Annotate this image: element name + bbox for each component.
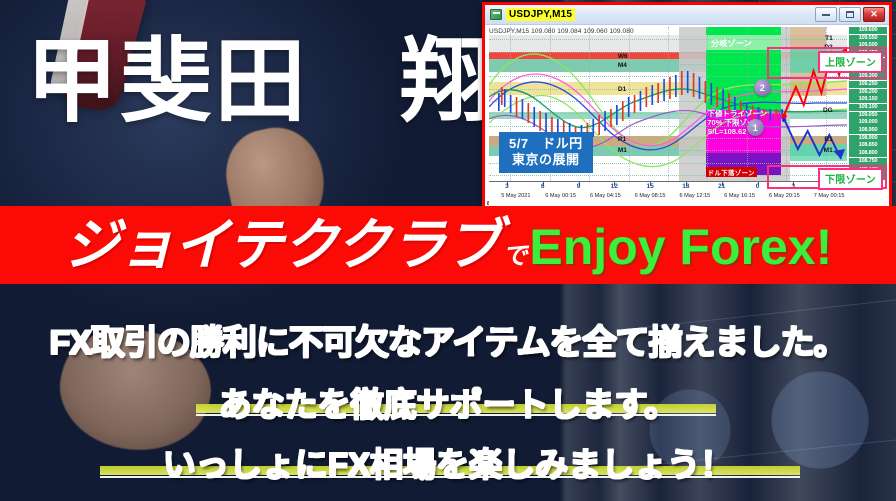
price-tick: 109.150 xyxy=(849,96,887,103)
level-label: D1 xyxy=(618,86,626,93)
price-tick: 109.200 xyxy=(849,89,887,96)
tagline-1: FX取引の勝利に不可欠なアイテムを全て揃えました。 xyxy=(0,315,896,364)
time-tick-date: 6 May 00:15 xyxy=(545,193,576,199)
promo-banner: ジョイテククラブ で Enjoy Forex! xyxy=(0,206,896,284)
level-label: W6 xyxy=(618,53,628,60)
level-label: M4 xyxy=(618,62,627,69)
chart-caption-line-1: 5/7 ドル円 xyxy=(509,136,583,152)
price-tick: 109.300 xyxy=(849,73,887,80)
banner-particle: で xyxy=(502,244,527,269)
level-label: R1 xyxy=(824,136,832,143)
time-tick-hour: 6 xyxy=(541,183,545,190)
price-tick: 109.500 xyxy=(849,42,887,49)
chart-document-icon xyxy=(490,9,502,20)
chart-caption-line-2: 東京の展開 xyxy=(509,152,583,168)
price-tick: 109.100 xyxy=(849,104,887,111)
time-tick-date: 7 May 00:15 xyxy=(814,193,845,199)
time-tick-hour: 15 xyxy=(646,183,653,190)
time-tick-date: 6 May 12:15 xyxy=(679,193,710,199)
price-tick: 108.850 xyxy=(849,142,887,149)
time-tick-date: 6 May 08:15 xyxy=(635,193,666,199)
upper-limit-zone-callout: 上限ゾーン xyxy=(818,51,883,73)
time-tick-hour: 21 xyxy=(718,183,725,190)
price-tick: 109.050 xyxy=(849,112,887,119)
given-name: 翔 xyxy=(400,36,494,128)
time-tick-hour: 3 xyxy=(505,183,509,190)
level-label: M1 xyxy=(824,147,833,154)
level-label: M1 xyxy=(618,147,627,154)
maximize-icon xyxy=(846,11,854,18)
price-tick: 108.750 xyxy=(849,158,887,165)
promo-banner-text: ジョイテククラブ で Enjoy Forex! xyxy=(64,217,833,273)
price-tick: 108.800 xyxy=(849,150,887,157)
time-tick-hour: 0 xyxy=(756,183,760,190)
dollar-drop-zone-label: ドル下落ゾーン xyxy=(706,167,757,177)
minimize-button[interactable] xyxy=(815,7,837,22)
time-tick-hour: 12 xyxy=(611,183,618,190)
person-name: 甲斐田 翔 xyxy=(26,36,494,128)
tagline-3: いっしょにFX相場を楽しみましょう！ xyxy=(0,438,896,486)
time-tick-hour: 18 xyxy=(682,183,689,190)
mt4-chart-window[interactable]: USDJPY,M15 ✕ xyxy=(482,2,892,206)
chart-caption: 5/7 ドル円 東京の展開 xyxy=(499,132,593,173)
time-tick-date: 6 May 20:15 xyxy=(769,193,800,199)
chart-window-titlebar[interactable]: USDJPY,M15 ✕ xyxy=(485,5,889,25)
tagline-3-underline xyxy=(100,476,800,478)
price-tick: 108.950 xyxy=(849,127,887,134)
window-controls[interactable]: ✕ xyxy=(815,7,886,22)
close-button[interactable]: ✕ xyxy=(863,7,885,22)
chart-window-title: USDJPY,M15 xyxy=(506,8,575,21)
level-label: DG xyxy=(823,107,833,114)
time-tick-date: 6 May 04:15 xyxy=(590,193,621,199)
chart-body[interactable]: T1 D3 W6 M4 W6 M4 D1 DG R1 M1 R1 M1 分岐ゾー… xyxy=(485,25,889,207)
branch-zone-label: 分岐ゾーン xyxy=(711,38,752,49)
level-label: R1 xyxy=(618,136,626,143)
minimize-icon xyxy=(822,14,830,16)
banner-slogan-en: Enjoy Forex! xyxy=(529,222,832,272)
trade-note-line-1: 下値トライゾーン xyxy=(707,109,767,118)
price-tick: 109.600 xyxy=(849,27,887,34)
level-label: T1 xyxy=(825,35,833,42)
price-tick: 109.000 xyxy=(849,119,887,126)
time-tick-hour: 3 xyxy=(791,183,795,190)
time-tick-hour: 9 xyxy=(577,183,581,190)
time-axis: 369121518210365 May 20216 May 00:156 May… xyxy=(489,181,847,205)
time-tick-date: 6 May 16:15 xyxy=(724,193,755,199)
maximize-button[interactable] xyxy=(839,7,861,22)
time-tick-date: 5 May 2021 xyxy=(501,193,530,199)
level-label: D3 xyxy=(824,44,832,51)
chart-quote-line: USDJPY,M15 109.080 109.084 109.060 109.0… xyxy=(489,28,634,35)
tagline-2: あなたを徹底サポートします。 xyxy=(0,378,896,426)
price-tick: 109.550 xyxy=(849,35,887,42)
price-tick: 108.900 xyxy=(849,135,887,142)
club-name: ジョイテククラブ xyxy=(64,217,501,273)
family-name: 甲斐田 xyxy=(26,36,308,128)
tagline-2-underline xyxy=(196,414,716,416)
price-tick: 109.250 xyxy=(849,81,887,88)
lower-limit-zone-callout: 下限ゾーン xyxy=(818,168,883,190)
